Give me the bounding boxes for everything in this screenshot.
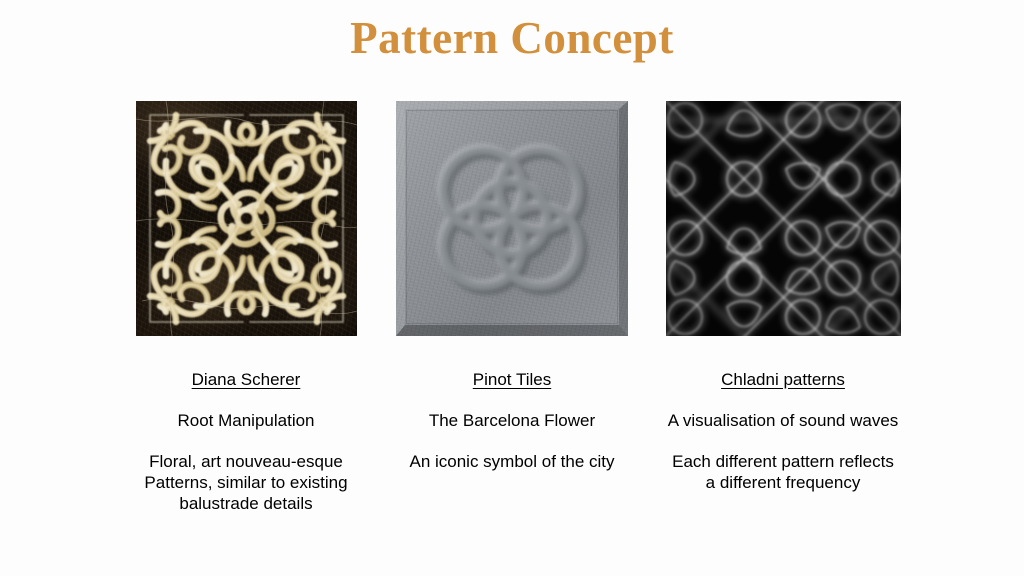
- page-title: Pattern Concept: [0, 13, 1024, 63]
- panot-barcelona-flower-tile: [396, 101, 628, 336]
- caption-heading: Chladni patterns: [647, 370, 919, 390]
- pattern-column-diana-scherer: Diana Scherer Root Manipulation Floral, …: [110, 101, 382, 514]
- pattern-column-chladni-patterns: Chladni patterns A visualisation of soun…: [647, 101, 919, 493]
- caption-heading: Pinot Tiles: [376, 370, 648, 390]
- pattern-columns: Diana Scherer Root Manipulation Floral, …: [0, 101, 1024, 531]
- chladni-nodal-lines: [666, 101, 901, 336]
- caption-line-1: The Barcelona Flower: [376, 410, 648, 431]
- caption-heading: Diana Scherer: [110, 370, 382, 390]
- caption-line-2: Floral, art nouveau-esque Patterns, simi…: [110, 451, 382, 514]
- caption-line-1: A visualisation of sound waves: [647, 410, 919, 431]
- chladni-figure-photo: [666, 101, 901, 336]
- figure-wrap-diana-scherer: [110, 101, 382, 341]
- figure-wrap-pinot-tiles: [376, 101, 648, 341]
- caption-block-chladni-patterns: Chladni patterns A visualisation of soun…: [647, 370, 919, 493]
- root-lattice-graphic: [136, 101, 357, 336]
- caption-block-pinot-tiles: Pinot Tiles The Barcelona Flower An icon…: [376, 370, 648, 472]
- pattern-column-pinot-tiles: Pinot Tiles The Barcelona Flower An icon…: [376, 101, 648, 472]
- caption-line-1: Root Manipulation: [110, 410, 382, 431]
- caption-line-2: An iconic symbol of the city: [376, 451, 648, 472]
- figure-wrap-chladni-patterns: [647, 101, 919, 341]
- tile-bevel-edge: [396, 101, 628, 336]
- caption-line-2: Each different pattern reflects a differ…: [647, 451, 919, 493]
- caption-block-diana-scherer: Diana Scherer Root Manipulation Floral, …: [110, 370, 382, 514]
- root-manipulation-photo: [136, 101, 357, 336]
